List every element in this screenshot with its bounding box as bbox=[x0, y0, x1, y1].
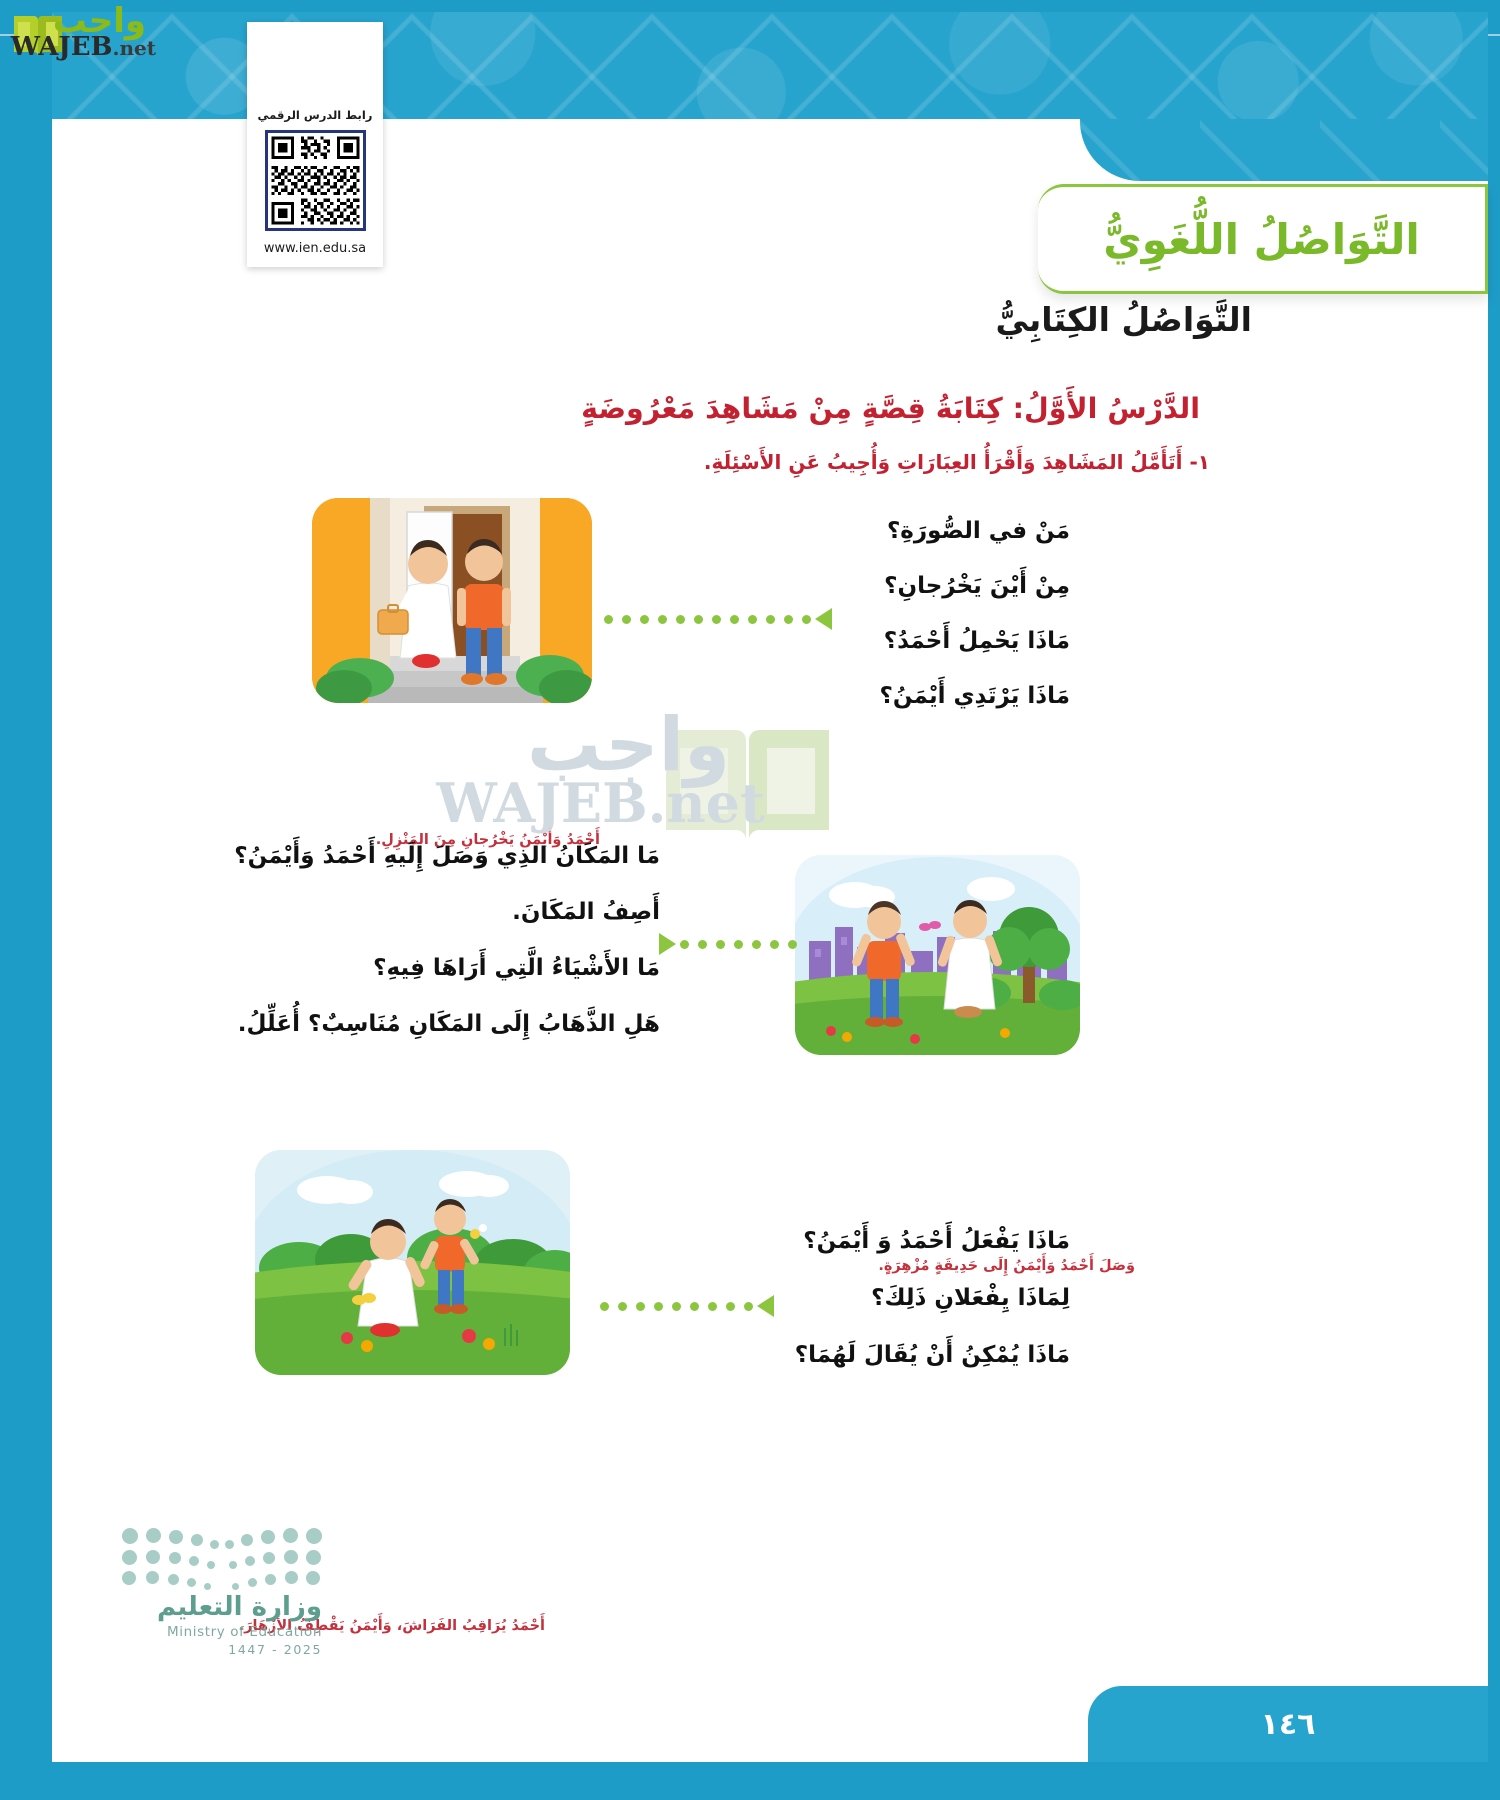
page-number: ١٤٦ bbox=[1261, 1707, 1316, 1742]
right-blue-frame bbox=[1488, 0, 1500, 1800]
header-band-notch bbox=[1080, 119, 1488, 181]
question-item: هَلِ الذَّهَابُ إِلَى المَكَانِ مُنَاسِب… bbox=[234, 1013, 660, 1036]
scene-illustration-1 bbox=[312, 498, 592, 703]
ministry-years: 2025 - 1447 bbox=[72, 1642, 322, 1657]
arrow-head-icon bbox=[659, 933, 676, 955]
ministry-of-education-logo: وزارة التعليم Ministry of Education 2025… bbox=[72, 1528, 322, 1658]
question-item: مَاذَا يَحْمِلُ أَحْمَدُ؟ bbox=[879, 630, 1070, 653]
watermark-english: WAJEB.net bbox=[11, 34, 156, 60]
question-item: لِمَاذَا يِفْعَلانِ ذَلِكَ؟ bbox=[795, 1287, 1070, 1310]
digital-lesson-qr-card[interactable]: رابط الدرس الرقمي bbox=[247, 22, 383, 267]
dotted-arrow-1 bbox=[604, 608, 832, 630]
ministry-name-arabic: وزارة التعليم bbox=[72, 1592, 322, 1622]
question-item: مِنْ أَيْنَ يَخْرُجانِ؟ bbox=[879, 575, 1070, 598]
question-item: أَصِفُ المَكَانَ. bbox=[234, 901, 660, 924]
activity-instruction: ١- أَتَأَمَّلُ المَشَاهِدَ وَأَقْرَأُ ال… bbox=[704, 450, 1210, 474]
top-blue-strip bbox=[0, 0, 1500, 12]
wajeb-watermark-center: واجب WAJEB.net bbox=[415, 712, 835, 862]
section-title-pill: التَّوَاصُلُ اللُّغَوِيُّ bbox=[1038, 184, 1488, 294]
scene-illustration-3 bbox=[255, 1150, 570, 1375]
question-block-1: مَنْ في الصُّورَةِ؟ مِنْ أَيْنَ يَخْرُجا… bbox=[879, 520, 1070, 740]
question-item: مَا الأَشْيَاءُ الَّتِي أَرَاهَا فِيهِ؟ bbox=[234, 957, 660, 980]
left-blue-frame bbox=[0, 0, 52, 1800]
qr-card-label: رابط الدرس الرقمي bbox=[247, 108, 383, 122]
question-item: مَاذَا يُمْكِنُ أَنْ يُقَالَ لَهُمَا؟ bbox=[795, 1344, 1070, 1367]
question-block-3: مَاذَا يَفْعَلُ أَحْمَدُ وَ أَيْمَنُ؟ لِ… bbox=[795, 1230, 1070, 1401]
wajeb-watermark-top: واجب WAJEB.net bbox=[4, 4, 204, 66]
arrow-dots bbox=[680, 940, 797, 949]
scene-illustration-2 bbox=[795, 855, 1080, 1055]
arrow-head-icon bbox=[815, 608, 832, 630]
ministry-name-english: Ministry of Education bbox=[72, 1624, 322, 1640]
question-item: مَاذَا يَفْعَلُ أَحْمَدُ وَ أَيْمَنُ؟ bbox=[795, 1230, 1070, 1253]
moe-dots-pattern bbox=[122, 1528, 322, 1586]
dotted-arrow-2 bbox=[659, 933, 797, 955]
bottom-blue-frame bbox=[0, 1762, 1500, 1800]
section-title: التَّوَاصُلُ اللُّغَوِيُّ bbox=[1103, 215, 1420, 264]
watermark-center-english: WAJEB.net bbox=[436, 776, 765, 830]
arrow-dots bbox=[604, 615, 811, 624]
page-number-tab: ١٤٦ bbox=[1088, 1686, 1488, 1762]
arrow-dots bbox=[600, 1302, 753, 1311]
textbook-page: واجب WAJEB.net رابط الدرس الرقمي bbox=[0, 0, 1500, 1800]
lesson-heading: الدَّرْسُ الأَوَّلُ: كِتَابَةُ قِصَّةٍ م… bbox=[581, 392, 1200, 425]
question-item: مَاذَا يَرْتَدِي أَيْمَنُ؟ bbox=[879, 685, 1070, 708]
arrow-head-icon bbox=[757, 1295, 774, 1317]
qr-card-url[interactable]: www.ien.edu.sa bbox=[247, 241, 383, 256]
question-block-2: مَا المَكَانُ الذِي وَصَلَ إِلَيهِ أَحْم… bbox=[234, 845, 660, 1069]
section-subtitle: التَّوَاصُلُ الكِتَابِيُّ bbox=[995, 300, 1252, 339]
qr-code-image[interactable] bbox=[265, 130, 366, 231]
question-item: مَنْ في الصُّورَةِ؟ bbox=[879, 520, 1070, 543]
dotted-arrow-3 bbox=[600, 1295, 774, 1317]
